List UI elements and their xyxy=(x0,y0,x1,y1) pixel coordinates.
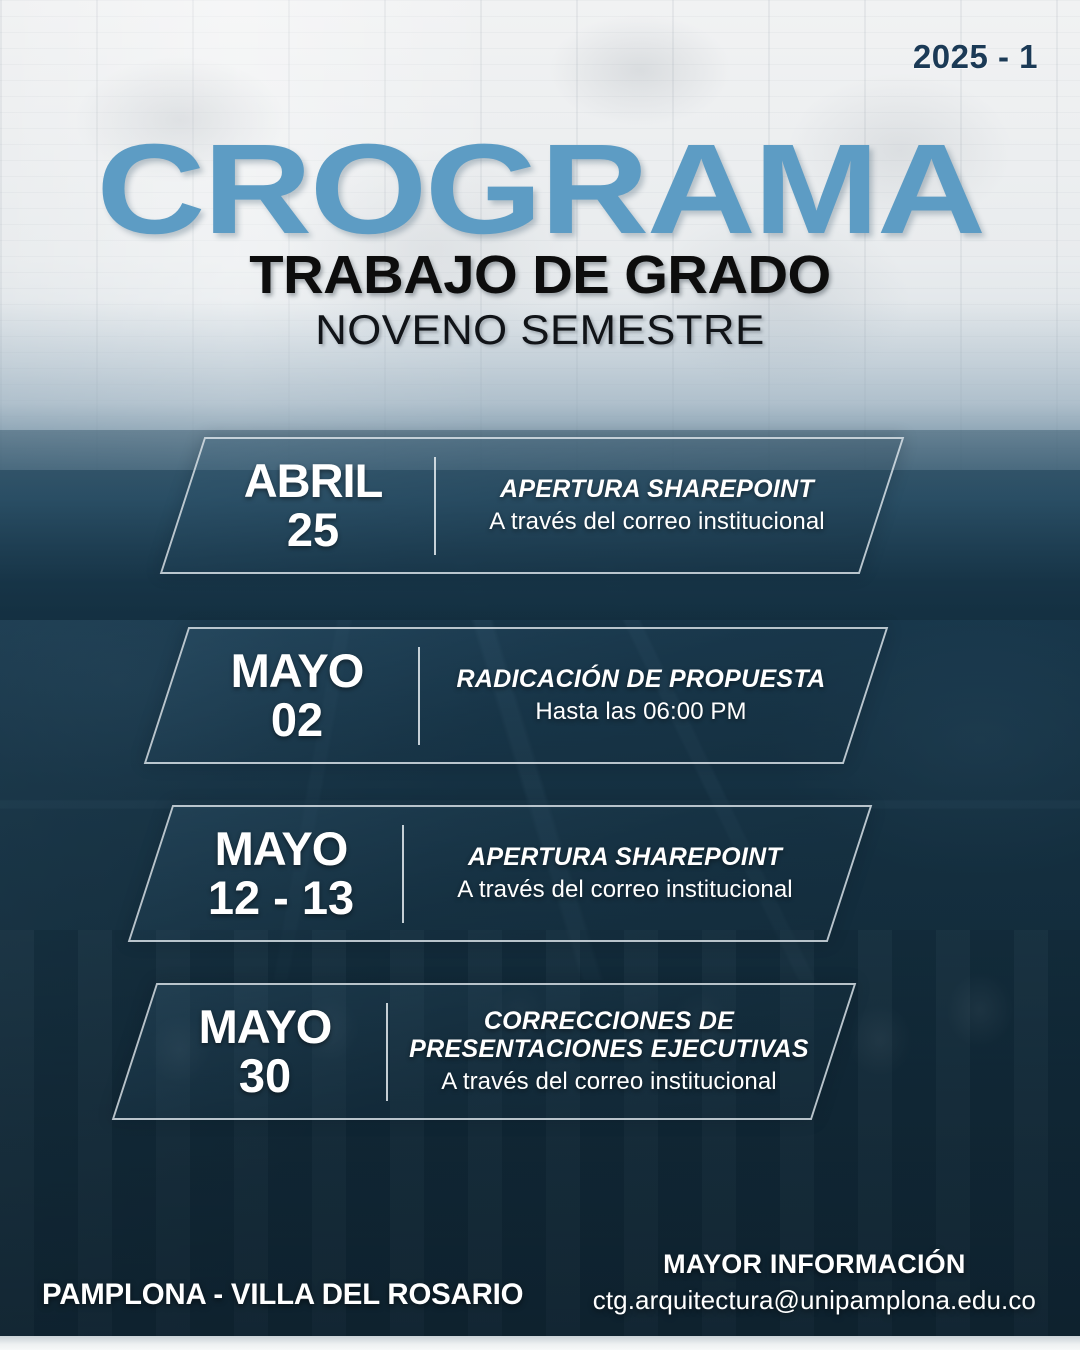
page-subtitle-secondary: NOVENO SEMESTRE xyxy=(0,309,1080,351)
timeline-card-title: RADICACIÓN DE PROPUESTA xyxy=(438,665,844,693)
timeline-card-description: RADICACIÓN DE PROPUESTAHasta las 06:00 P… xyxy=(420,665,866,727)
timeline-card-content: MAYO02RADICACIÓN DE PROPUESTAHasta las 0… xyxy=(166,627,866,764)
page-title: CROGRAMA xyxy=(0,126,1080,254)
footer-info-label: MAYOR INFORMACIÓN xyxy=(593,1248,1036,1280)
timeline-card-content: MAYO12 - 13APERTURA SHAREPOINTA través d… xyxy=(150,805,850,942)
timeline-card-month: ABRIL xyxy=(192,457,434,505)
timeline-card-date: MAYO02 xyxy=(166,647,418,744)
background-bottom-strip xyxy=(0,1336,1080,1350)
timeline-card-content: MAYO30CORRECCIONES DE PRESENTACIONES EJE… xyxy=(134,983,834,1120)
footer-email[interactable]: ctg.arquitectura@unipamplona.edu.co xyxy=(593,1284,1036,1317)
timeline-card-content: ABRIL25APERTURA SHAREPOINTA través del c… xyxy=(182,437,882,574)
timeline-card-subtitle: Hasta las 06:00 PM xyxy=(438,697,844,727)
page-subtitle-primary: TRABAJO DE GRADO xyxy=(0,248,1080,302)
timeline-card: MAYO30CORRECCIONES DE PRESENTACIONES EJE… xyxy=(134,983,834,1120)
timeline-card-subtitle: A través del correo institucional xyxy=(422,875,828,905)
timeline-card-day: 30 xyxy=(144,1051,386,1100)
timeline-card-date: MAYO30 xyxy=(134,1003,386,1100)
timeline-card-month: MAYO xyxy=(160,825,402,873)
timeline-card: MAYO12 - 13APERTURA SHAREPOINTA través d… xyxy=(150,805,850,942)
year-badge: 2025 - 1 xyxy=(913,38,1038,76)
timeline-card-month: MAYO xyxy=(144,1003,386,1051)
timeline-card-month: MAYO xyxy=(176,647,418,695)
timeline-card: MAYO02RADICACIÓN DE PROPUESTAHasta las 0… xyxy=(166,627,866,764)
timeline-card-day: 02 xyxy=(176,695,418,744)
timeline-card-title: APERTURA SHAREPOINT xyxy=(454,475,860,503)
timeline-card-description: APERTURA SHAREPOINTA través del correo i… xyxy=(436,475,882,537)
timeline-card-title: CORRECCIONES DE PRESENTACIONES EJECUTIVA… xyxy=(406,1007,812,1063)
timeline-card-day: 25 xyxy=(192,505,434,554)
poster-root: 2025 - 1 CROGRAMA TRABAJO DE GRADO NOVEN… xyxy=(0,0,1080,1350)
timeline-card-date: ABRIL25 xyxy=(182,457,434,554)
timeline-card-subtitle: A través del correo institucional xyxy=(406,1067,812,1097)
timeline-card: ABRIL25APERTURA SHAREPOINTA través del c… xyxy=(182,437,882,574)
timeline-card-day: 12 - 13 xyxy=(160,873,402,922)
timeline-card-description: APERTURA SHAREPOINTA través del correo i… xyxy=(404,843,850,905)
timeline-card-description: CORRECCIONES DE PRESENTACIONES EJECUTIVA… xyxy=(388,1007,834,1097)
footer-campus-label: PAMPLONA - VILLA DEL ROSARIO xyxy=(42,1278,523,1312)
timeline-card-subtitle: A través del correo institucional xyxy=(454,507,860,537)
timeline-card-title: APERTURA SHAREPOINT xyxy=(422,843,828,871)
footer-contact-block: MAYOR INFORMACIÓN ctg.arquitectura@unipa… xyxy=(593,1248,1036,1316)
timeline-card-date: MAYO12 - 13 xyxy=(150,825,402,922)
